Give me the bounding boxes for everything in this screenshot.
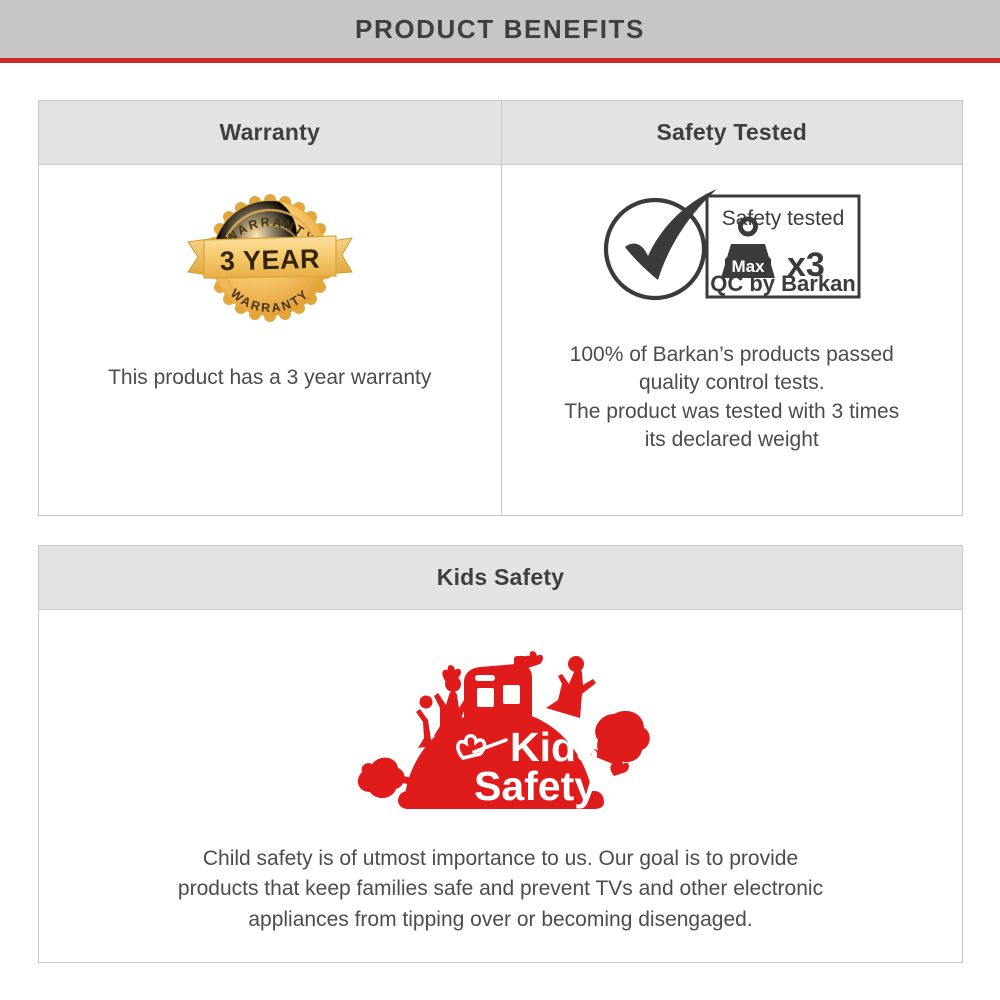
- cell-safety-tested: Safety tested Max x3 QC by Barkan Safety…: [501, 165, 963, 515]
- panel-body-row-2: Kids Safety Kids Safety Child safety is …: [39, 610, 962, 962]
- warranty-badge-ribbon-label: 3 YEAR: [358, 192, 359, 193]
- warranty-ribbon-text: 3 YEAR: [219, 244, 320, 277]
- cell-kids-safety: Kids Safety Kids Safety Child safety is …: [39, 610, 962, 962]
- cell-warranty: WARRANTY WARRANTY 3 YEAR WARRANTY 3 YEAR…: [39, 165, 501, 515]
- kids-logo-line2-text: Safety: [474, 763, 597, 809]
- kids-safety-logo-icon: Kids Safety Kids Safety: [346, 648, 656, 810]
- safety-qc-text: QC by Barkan: [710, 271, 856, 296]
- warranty-caption: This product has a 3 year warranty: [108, 364, 431, 392]
- safety-tested-icon: Safety tested Max x3 QC by Barkan Safety…: [601, 187, 863, 309]
- kids-caption-line: Child safety is of utmost importance to …: [178, 844, 823, 874]
- safety-caption-line: The product was tested with 3 times: [564, 398, 899, 426]
- kids-caption-line: appliances from tipping over or becoming…: [178, 905, 823, 935]
- panel-body-row-1: WARRANTY WARRANTY 3 YEAR WARRANTY 3 YEAR…: [39, 165, 962, 515]
- safety-icon-line1-label: Safety tested: [863, 187, 864, 188]
- header-red-rule: [0, 58, 1000, 63]
- safety-icon-weight-label: Max: [863, 187, 864, 188]
- panel-header-row: Kids Safety: [39, 546, 962, 610]
- safety-caption-line: 100% of Barkan’s products passed: [564, 341, 899, 369]
- column-title-safety-tested: Safety Tested: [657, 119, 807, 146]
- kids-safety-caption: Child safety is of utmost importance to …: [178, 844, 823, 935]
- safety-tested-caption: 100% of Barkan’s products passed quality…: [564, 341, 899, 454]
- panel-header-row: Warranty Safety Tested: [39, 101, 962, 165]
- panel-header-cell-warranty: Warranty: [39, 101, 501, 164]
- benefits-panel-row-1: Warranty Safety Tested: [38, 100, 963, 516]
- page-title: PRODUCT BENEFITS: [355, 14, 645, 45]
- safety-caption-line: quality control tests.: [564, 369, 899, 397]
- kids-logo-line2-label: Safety: [656, 648, 657, 649]
- safety-caption-line: its declared weight: [564, 426, 899, 454]
- warranty-badge-icon: WARRANTY WARRANTY 3 YEAR WARRANTY 3 YEAR: [182, 192, 358, 324]
- panel-header-cell-kids-safety: Kids Safety: [39, 546, 962, 609]
- warranty-badge-arc-label: WARRANTY: [358, 192, 359, 193]
- safety-icon-line3-label: QC by Barkan: [863, 187, 864, 188]
- benefits-panel-row-2: Kids Safety: [38, 545, 963, 963]
- column-title-warranty: Warranty: [220, 119, 320, 146]
- kids-logo-line1-label: Kids: [656, 648, 657, 649]
- panel-header-cell-safety-tested: Safety Tested: [501, 101, 963, 164]
- column-title-kids-safety: Kids Safety: [437, 564, 564, 591]
- kids-caption-line: products that keep families safe and pre…: [178, 874, 823, 904]
- page-header-bar: PRODUCT BENEFITS: [0, 0, 1000, 58]
- safety-icon-multiplier-label: x3: [863, 187, 864, 188]
